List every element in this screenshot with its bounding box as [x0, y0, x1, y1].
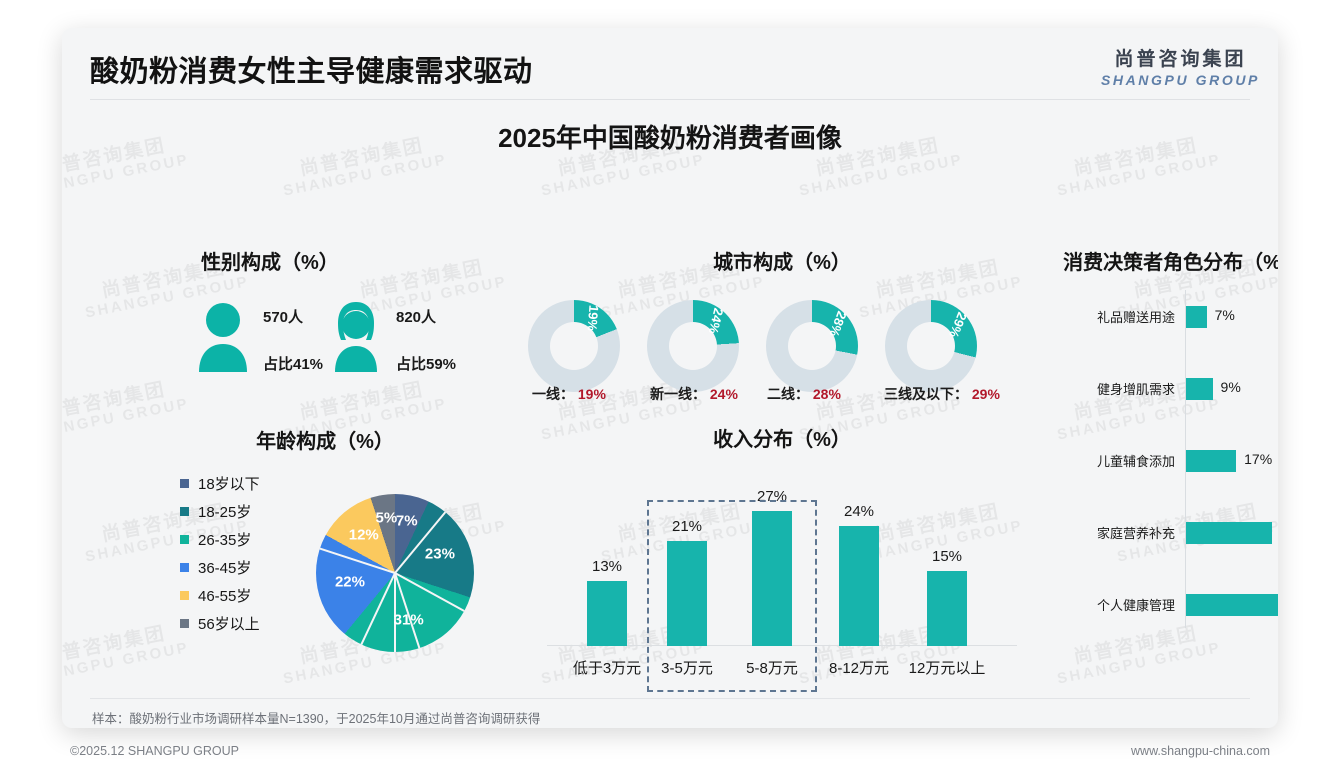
role-bar-row: 儿童辅食添加17% [1037, 448, 1278, 474]
donut-value-label: 29% [946, 310, 970, 340]
legend-label: 18岁以下 [198, 473, 260, 494]
legend-swatch [180, 535, 189, 544]
role-label: 个人健康管理 [1097, 595, 1175, 614]
city-name: 二线： [767, 386, 809, 402]
role-bar [1186, 522, 1272, 544]
income-bar-value: 13% [587, 558, 627, 575]
watermark-tile: 尚普咨询集团SHANGPU GROUP [1052, 620, 1222, 687]
main-title: 2025年中国酸奶粉消费者画像 [62, 118, 1278, 155]
city-donut-2: 24% [647, 300, 739, 392]
role-bar [1186, 378, 1213, 400]
footnote-divider [90, 698, 1250, 699]
income-bar-value: 15% [927, 548, 967, 565]
city-caption-2: 新一线： 24% [650, 384, 738, 404]
role-bar-row: 礼品赠送用途7% [1037, 304, 1278, 330]
income-bar-category: 8-12万元 [829, 657, 889, 678]
income-bar-chart: 13%低于3万元21%3-5万元27%5-8万元24%8-12万元15%12万元… [547, 460, 1017, 692]
city-caption-1: 一线： 19% [532, 384, 606, 404]
age-legend-item: 18-25岁 [180, 497, 260, 525]
role-label: 礼品赠送用途 [1097, 307, 1175, 326]
income-bar [587, 581, 627, 646]
legend-swatch [180, 563, 189, 572]
city-value: 29% [972, 386, 1000, 402]
city-value: 19% [578, 386, 606, 402]
age-legend-item: 56岁以上 [180, 609, 260, 637]
city-value: 28% [813, 386, 841, 402]
city-donut-1: 19% [528, 300, 620, 392]
income-bar-value: 24% [839, 503, 879, 520]
city-value: 24% [710, 386, 738, 402]
slide-footer: ©2025.12 SHANGPU GROUP www.shangpu-china… [62, 740, 1278, 768]
role-value: 7% [1215, 307, 1235, 323]
gender-female-text: 820人 占比59% [396, 306, 456, 374]
city-donut-3: 28% [766, 300, 858, 392]
legend-label: 36-45岁 [198, 557, 251, 578]
logo-chinese: 尚普咨询集团 [1101, 44, 1260, 71]
income-bar [839, 526, 879, 646]
role-value: 9% [1221, 379, 1241, 395]
female-share: 占比59% [396, 353, 456, 374]
brand-logo: 尚普咨询集团 SHANGPU GROUP [1101, 44, 1260, 88]
pie-value-label: 23% [425, 545, 455, 562]
website-link[interactable]: www.shangpu-china.com [1131, 744, 1270, 758]
legend-label: 18-25岁 [198, 501, 251, 522]
income-bar-category: 低于3万元 [573, 657, 641, 678]
income-bar [927, 571, 967, 646]
legend-swatch [180, 507, 189, 516]
role-bar-row: 家庭营养补充29% [1037, 520, 1278, 546]
role-value: 17% [1244, 451, 1272, 467]
city-donut-4: 29% [885, 300, 977, 392]
role-section-title: 消费决策者角色分布（%） [1037, 246, 1278, 275]
city-name: 新一线： [650, 386, 706, 402]
legend-swatch [180, 591, 189, 600]
role-label: 健身增肌需求 [1097, 379, 1175, 398]
age-legend-item: 46-55岁 [180, 581, 260, 609]
legend-swatch [180, 479, 189, 488]
gender-section-title: 性别构成（%） [201, 246, 339, 275]
role-label: 儿童辅食添加 [1097, 451, 1175, 470]
header-divider [90, 99, 1250, 100]
role-bar [1186, 450, 1236, 472]
role-label: 家庭营养补充 [1097, 523, 1175, 542]
age-legend-item: 36-45岁 [180, 553, 260, 581]
female-silhouette-icon [328, 300, 384, 372]
donut-value-label: 28% [827, 309, 850, 339]
female-count: 820人 [396, 306, 456, 327]
city-caption-4: 三线及以下： 29% [884, 384, 1000, 404]
income-bar-category: 12万元以上 [909, 657, 986, 678]
male-share: 占比41% [263, 353, 323, 374]
city-name: 三线及以下： [884, 386, 968, 402]
legend-label: 26-35岁 [198, 529, 251, 550]
page-title: 酸奶粉消费女性主导健康需求驱动 [90, 48, 533, 90]
age-legend-item: 26-35岁 [180, 525, 260, 553]
pie-value-label: 12% [349, 527, 379, 544]
watermark-tile: 尚普咨询集团SHANGPU GROUP [62, 620, 191, 687]
legend-swatch [180, 619, 189, 628]
income-section-title: 收入分布（%） [547, 423, 1017, 452]
pie-value-label: 7% [396, 512, 418, 529]
pie-value-label: 31% [394, 612, 424, 629]
role-bar-chart: 礼品赠送用途7%健身增肌需求9%儿童辅食添加17%家庭营养补充29%个人健康管理… [1037, 290, 1278, 628]
age-legend-item: 18岁以下 [180, 469, 260, 497]
role-bar-row: 健身增肌需求9% [1037, 376, 1278, 402]
role-bar-row: 个人健康管理38% [1037, 592, 1278, 618]
legend-label: 46-55岁 [198, 585, 251, 606]
pie-value-label: 22% [335, 573, 365, 590]
city-section-title: 城市构成（%） [517, 246, 1047, 275]
city-name: 一线： [532, 386, 574, 402]
donut-value-label: 19% [585, 304, 602, 331]
age-pie-chart: 7%23%31%22%12%5% [316, 494, 474, 652]
pie-value-label: 5% [376, 510, 398, 527]
role-bar [1186, 306, 1207, 328]
income-highlight-box [647, 500, 817, 692]
footnote-text: 样本：酸奶粉行业市场调研样本量N=1390，于2025年10月通过尚普咨询调研获… [92, 708, 540, 727]
donut-value-label: 24% [706, 307, 727, 336]
city-caption-3: 二线： 28% [767, 384, 841, 404]
gender-female-block: 820人 占比59% [328, 300, 518, 376]
male-count: 570人 [263, 306, 323, 327]
gender-male-text: 570人 占比41% [263, 306, 323, 374]
male-silhouette-icon [195, 300, 251, 372]
age-legend: 18岁以下18-25岁26-35岁36-45岁46-55岁56岁以上 [180, 469, 260, 637]
slide-card: 尚普咨询集团SHANGPU GROUP尚普咨询集团SHANGPU GROUP尚普… [62, 28, 1278, 728]
slide-header: 酸奶粉消费女性主导健康需求驱动 尚普咨询集团 SHANGPU GROUP [62, 28, 1278, 100]
age-section-title: 年龄构成（%） [170, 425, 480, 454]
role-bar [1186, 594, 1278, 616]
copyright-text: ©2025.12 SHANGPU GROUP [70, 744, 239, 758]
legend-label: 56岁以上 [198, 613, 260, 634]
logo-english: SHANGPU GROUP [1101, 72, 1260, 88]
